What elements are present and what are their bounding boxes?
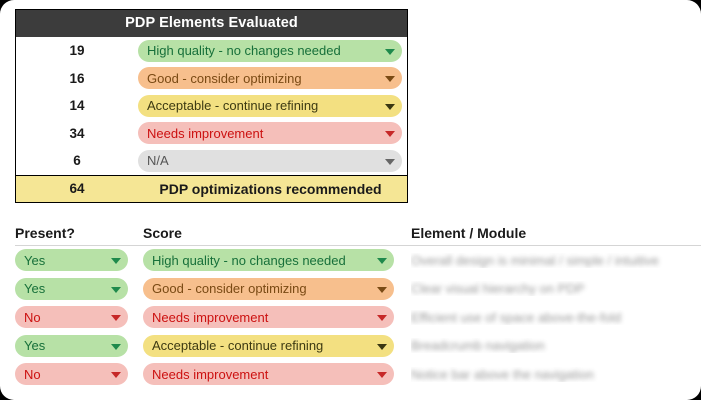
element-module-text: Breadcrumb navigation (411, 338, 701, 353)
chevron-down-icon[interactable] (111, 258, 121, 264)
summary-row-count: 14 (16, 98, 138, 113)
table-row: YesAcceptable - continue refiningBreadcr… (15, 332, 701, 361)
report-card: PDP Elements Evaluated 19High quality - … (0, 0, 701, 400)
chevron-down-icon[interactable] (111, 287, 121, 293)
summary-row: 14Acceptable - continue refining (16, 92, 407, 120)
score-dropdown-label: Good - consider optimizing (152, 282, 307, 295)
cell-element: Overall design is minimal / simple / int… (411, 253, 701, 268)
chevron-down-icon[interactable] (111, 372, 121, 378)
chevron-down-icon[interactable] (385, 49, 395, 55)
cell-score: Good - consider optimizing (143, 278, 411, 300)
score-dropdown-label: High quality - no changes needed (152, 254, 346, 267)
cell-present: No (15, 363, 143, 385)
score-dropdown[interactable]: Needs improvement (143, 363, 394, 385)
score-dropdown[interactable]: Acceptable - continue refining (143, 335, 394, 357)
summary-table-title: PDP Elements Evaluated (16, 10, 407, 37)
element-module-text: Overall design is minimal / simple / int… (411, 253, 701, 268)
chevron-down-icon[interactable] (385, 159, 395, 165)
cell-score: Needs improvement (143, 363, 411, 385)
chevron-down-icon[interactable] (385, 131, 395, 137)
chevron-down-icon[interactable] (111, 344, 121, 350)
score-dropdown[interactable]: Good - consider optimizing (143, 278, 394, 300)
score-dropdown-label: Needs improvement (152, 368, 268, 381)
summary-row: 6N/A (16, 147, 407, 175)
summary-score-dropdown[interactable]: Good - consider optimizing (138, 67, 402, 89)
present-dropdown-label: No (24, 368, 41, 381)
column-header-present: Present? (15, 225, 143, 243)
summary-score-dropdown-label: High quality - no changes needed (147, 44, 341, 57)
summary-row-score-cell: Needs improvement (138, 122, 407, 144)
chevron-down-icon[interactable] (385, 104, 395, 110)
chevron-down-icon[interactable] (377, 372, 387, 378)
chevron-down-icon[interactable] (377, 258, 387, 264)
summary-score-dropdown[interactable]: Acceptable - continue refining (138, 95, 402, 117)
present-dropdown[interactable]: Yes (15, 335, 128, 357)
summary-score-dropdown[interactable]: N/A (138, 150, 402, 172)
chevron-down-icon[interactable] (385, 76, 395, 82)
present-dropdown[interactable]: Yes (15, 249, 128, 271)
summary-row-count: 34 (16, 126, 138, 141)
column-header-element-label: Element / Module (411, 225, 526, 241)
summary-score-dropdown[interactable]: Needs improvement (138, 122, 402, 144)
cell-score: Needs improvement (143, 306, 411, 328)
summary-score-dropdown-label: N/A (147, 154, 169, 167)
present-dropdown-label: Yes (24, 339, 45, 352)
cell-element: Clear visual hierarchy on PDP (411, 281, 701, 296)
summary-row-score-cell: Acceptable - continue refining (138, 95, 407, 117)
cell-element: Breadcrumb navigation (411, 338, 701, 353)
present-dropdown-label: No (24, 311, 41, 324)
cell-present: Yes (15, 249, 143, 271)
summary-row-count: 19 (16, 43, 138, 58)
summary-row-score-cell: High quality - no changes needed (138, 40, 407, 62)
element-module-text: Efficient use of space above-the-fold (411, 310, 701, 325)
summary-row-score-cell: N/A (138, 150, 407, 172)
summary-score-dropdown-label: Needs improvement (147, 127, 263, 140)
cell-element: Notice bar above the navigation (411, 367, 701, 382)
cell-score: Acceptable - continue refining (143, 335, 411, 357)
summary-row-count: 16 (16, 71, 138, 86)
table-row: YesGood - consider optimizingClear visua… (15, 275, 701, 304)
present-dropdown-label: Yes (24, 282, 45, 295)
column-header-score-label: Score (143, 225, 182, 241)
cell-present: Yes (15, 278, 143, 300)
detail-table: Present? Score Element / Module YesHigh … (15, 224, 701, 389)
chevron-down-icon[interactable] (377, 344, 387, 350)
column-header-present-label: Present? (15, 225, 75, 241)
score-dropdown[interactable]: Needs improvement (143, 306, 394, 328)
chevron-down-icon[interactable] (377, 287, 387, 293)
column-header-score: Score (143, 225, 411, 243)
summary-row: 19High quality - no changes needed (16, 37, 407, 65)
table-row: NoNeeds improvementNotice bar above the … (15, 360, 701, 389)
summary-score-dropdown-label: Good - consider optimizing (147, 72, 302, 85)
column-header-element: Element / Module (411, 225, 701, 243)
summary-row-score-cell: Good - consider optimizing (138, 67, 407, 89)
score-dropdown-label: Acceptable - continue refining (152, 339, 323, 352)
summary-row: 16Good - consider optimizing (16, 65, 407, 93)
present-dropdown-label: Yes (24, 254, 45, 267)
chevron-down-icon[interactable] (377, 315, 387, 321)
cell-present: No (15, 306, 143, 328)
element-module-text: Notice bar above the navigation (411, 367, 701, 382)
cell-present: Yes (15, 335, 143, 357)
summary-row: 34Needs improvement (16, 120, 407, 148)
summary-table: PDP Elements Evaluated 19High quality - … (15, 9, 408, 203)
summary-footer-count: 64 (16, 181, 138, 196)
table-row: YesHigh quality - no changes neededOvera… (15, 246, 701, 275)
table-row: NoNeeds improvementEfficient use of spac… (15, 303, 701, 332)
present-dropdown[interactable]: Yes (15, 278, 128, 300)
detail-table-body: YesHigh quality - no changes neededOvera… (15, 246, 701, 389)
cell-element: Efficient use of space above-the-fold (411, 310, 701, 325)
summary-row-count: 6 (16, 153, 138, 168)
element-module-text: Clear visual hierarchy on PDP (411, 281, 701, 296)
present-dropdown[interactable]: No (15, 306, 128, 328)
summary-footer-row: 64 PDP optimizations recommended (16, 175, 407, 202)
score-dropdown[interactable]: High quality - no changes needed (143, 249, 394, 271)
summary-footer-label: PDP optimizations recommended (138, 181, 407, 197)
detail-table-header-row: Present? Score Element / Module (15, 224, 701, 246)
summary-score-dropdown-label: Acceptable - continue refining (147, 99, 318, 112)
summary-table-body: 19High quality - no changes needed16Good… (16, 37, 407, 175)
cell-score: High quality - no changes needed (143, 249, 411, 271)
summary-score-dropdown[interactable]: High quality - no changes needed (138, 40, 402, 62)
score-dropdown-label: Needs improvement (152, 311, 268, 324)
present-dropdown[interactable]: No (15, 363, 128, 385)
chevron-down-icon[interactable] (111, 315, 121, 321)
